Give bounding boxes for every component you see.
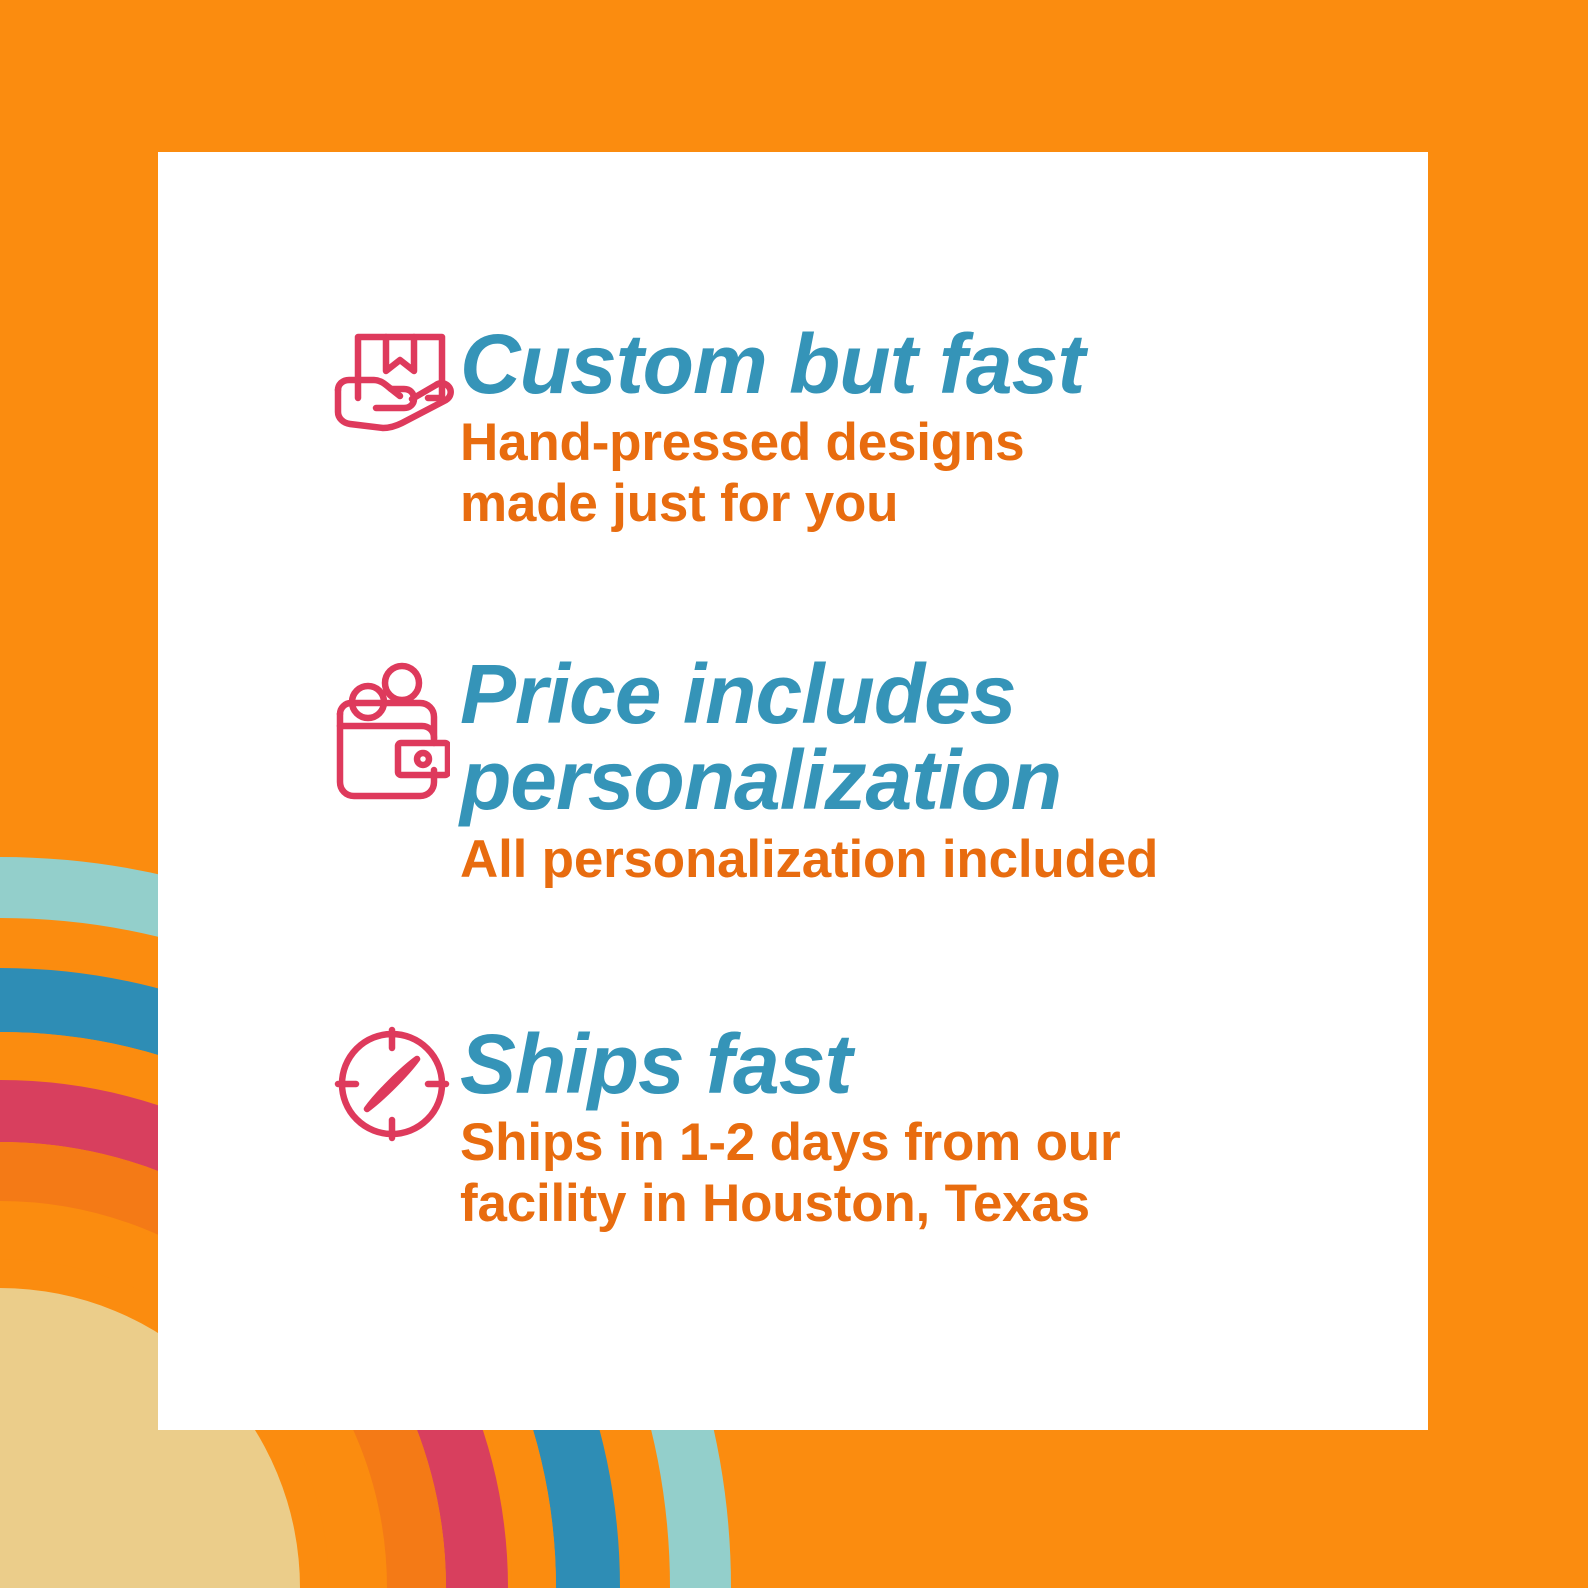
- feature-text-block: Custom but fast Hand-pressed designs mad…: [460, 322, 1354, 535]
- feature-body: Ships in 1-2 days from our facility in H…: [460, 1112, 1354, 1235]
- feature-text-block: Price includes personalization All perso…: [460, 652, 1354, 891]
- wallet-with-coins-icon: [334, 660, 450, 800]
- feature-title: Price includes personalization: [460, 652, 1354, 823]
- feature-row-custom-but-fast: Custom but fast Hand-pressed designs mad…: [334, 322, 1354, 535]
- feature-icon-slot: [334, 322, 460, 432]
- feature-icon-slot: [334, 1022, 460, 1142]
- feature-icon-slot: [334, 652, 460, 800]
- feature-title: Ships fast: [460, 1022, 1354, 1108]
- feature-row-ships-fast: Ships fast Ships in 1-2 days from our fa…: [334, 1022, 1354, 1235]
- hand-holding-box-icon: [334, 328, 456, 432]
- feature-text-block: Ships fast Ships in 1-2 days from our fa…: [460, 1022, 1354, 1235]
- feature-title: Custom but fast: [460, 322, 1354, 408]
- feature-body: All personalization included: [460, 829, 1354, 890]
- compass-icon: [334, 1026, 450, 1142]
- feature-row-price-includes-personalization: Price includes personalization All perso…: [334, 652, 1354, 891]
- feature-body: Hand-pressed designs made just for you: [460, 412, 1354, 535]
